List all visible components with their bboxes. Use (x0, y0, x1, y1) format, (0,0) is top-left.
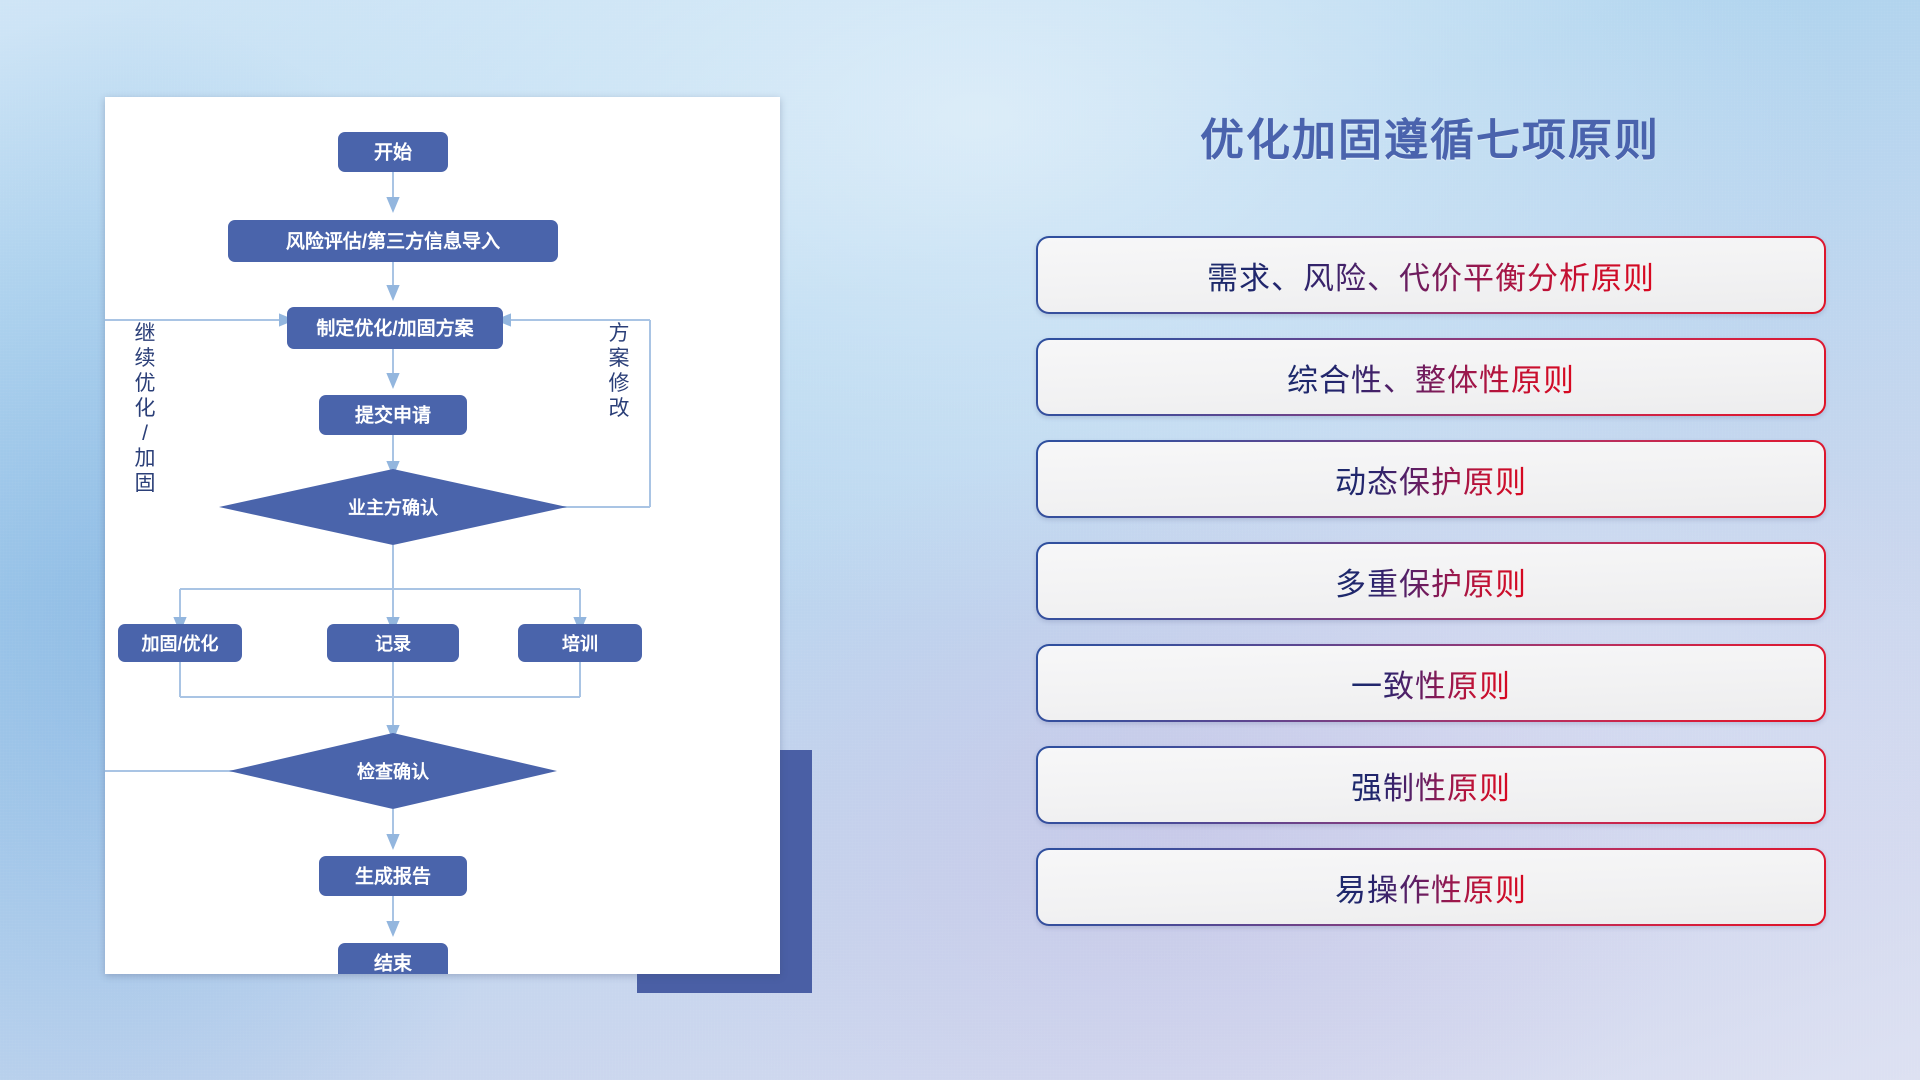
flow-node-start-label: 开始 (374, 141, 412, 164)
principle-card-3-label: 动态保护原则 (1335, 457, 1527, 502)
flow-node-inspection-confirm[interactable]: 检查确认 (229, 733, 557, 809)
flow-node-reinforce-optimize[interactable]: 加固/优化 (118, 624, 242, 662)
principle-card-3-inner: 动态保护原则 (1038, 442, 1824, 516)
principle-card-4-label: 多重保护原则 (1335, 559, 1527, 604)
flow-node-risk-assessment-label: 风险评估/第三方信息导入 (286, 230, 500, 253)
principle-card-6-inner: 强制性原则 (1038, 748, 1824, 822)
flow-node-generate-report-label: 生成报告 (355, 865, 431, 888)
flow-node-reinforce-optimize-label: 加固/优化 (140, 633, 218, 654)
flow-node-end-label: 结束 (374, 952, 413, 975)
principle-card-5[interactable]: 一致性原则 (1036, 644, 1826, 722)
page-title: 优化加固遵循七项原则 (1020, 104, 1840, 168)
flow-node-risk-assessment[interactable]: 风险评估/第三方信息导入 (228, 220, 558, 262)
flow-loop-label-plan-revision: 方案修改 (609, 322, 630, 420)
principle-card-7-inner: 易操作性原则 (1038, 850, 1824, 924)
flow-node-record[interactable]: 记录 (327, 624, 459, 662)
flow-node-training-label: 培训 (562, 633, 598, 654)
flowchart-diagram: 开始 风险评估/第三方信息导入 制定优化/加固方案 提交申请 业主方确认 (105, 97, 780, 974)
flow-node-owner-confirm-label: 业主方确认 (348, 497, 439, 518)
principle-card-2[interactable]: 综合性、整体性原则 (1036, 338, 1826, 416)
flow-node-inspection-confirm-label: 检查确认 (357, 761, 430, 782)
flow-connectors (105, 171, 650, 929)
principle-card-4[interactable]: 多重保护原则 (1036, 542, 1826, 620)
flow-node-submit-application-label: 提交申请 (355, 404, 431, 427)
principles-section: 优化加固遵循七项原则 需求、风险、代价平衡分析原则 综合性、整体性原则 动态保护… (1020, 0, 1840, 1080)
principle-card-7[interactable]: 易操作性原则 (1036, 848, 1826, 926)
principle-card-5-inner: 一致性原则 (1038, 646, 1824, 720)
flow-node-make-plan-label: 制定优化/加固方案 (316, 317, 474, 340)
slide-canvas: 开始 风险评估/第三方信息导入 制定优化/加固方案 提交申请 业主方确认 (0, 0, 1920, 1080)
principle-card-2-label: 综合性、整体性原则 (1287, 355, 1575, 400)
flowchart-panel: 开始 风险评估/第三方信息导入 制定优化/加固方案 提交申请 业主方确认 (105, 97, 780, 974)
principle-card-1[interactable]: 需求、风险、代价平衡分析原则 (1036, 236, 1826, 314)
principle-card-6[interactable]: 强制性原则 (1036, 746, 1826, 824)
principle-card-1-inner: 需求、风险、代价平衡分析原则 (1038, 238, 1824, 312)
principle-card-5-label: 一致性原则 (1351, 661, 1511, 706)
principle-card-3[interactable]: 动态保护原则 (1036, 440, 1826, 518)
principle-card-4-inner: 多重保护原则 (1038, 544, 1824, 618)
flow-node-end[interactable]: 结束 (338, 943, 448, 974)
principle-card-2-inner: 综合性、整体性原则 (1038, 340, 1824, 414)
flow-node-generate-report[interactable]: 生成报告 (319, 856, 467, 896)
principle-card-1-label: 需求、风险、代价平衡分析原则 (1207, 253, 1655, 298)
flow-node-submit-application[interactable]: 提交申请 (319, 395, 467, 435)
principles-list: 需求、风险、代价平衡分析原则 综合性、整体性原则 动态保护原则 多重保护原则 (1036, 236, 1826, 950)
principle-card-7-label: 易操作性原则 (1335, 865, 1527, 910)
flow-node-training[interactable]: 培训 (518, 624, 642, 662)
flow-loop-label-continue-optimize: 继续优化/加固 (135, 322, 156, 495)
flow-node-owner-confirm[interactable]: 业主方确认 (219, 469, 567, 545)
flow-node-start[interactable]: 开始 (338, 132, 448, 172)
principle-card-6-label: 强制性原则 (1351, 763, 1511, 808)
flow-node-make-plan[interactable]: 制定优化/加固方案 (287, 307, 503, 349)
flow-node-record-label: 记录 (375, 634, 411, 654)
